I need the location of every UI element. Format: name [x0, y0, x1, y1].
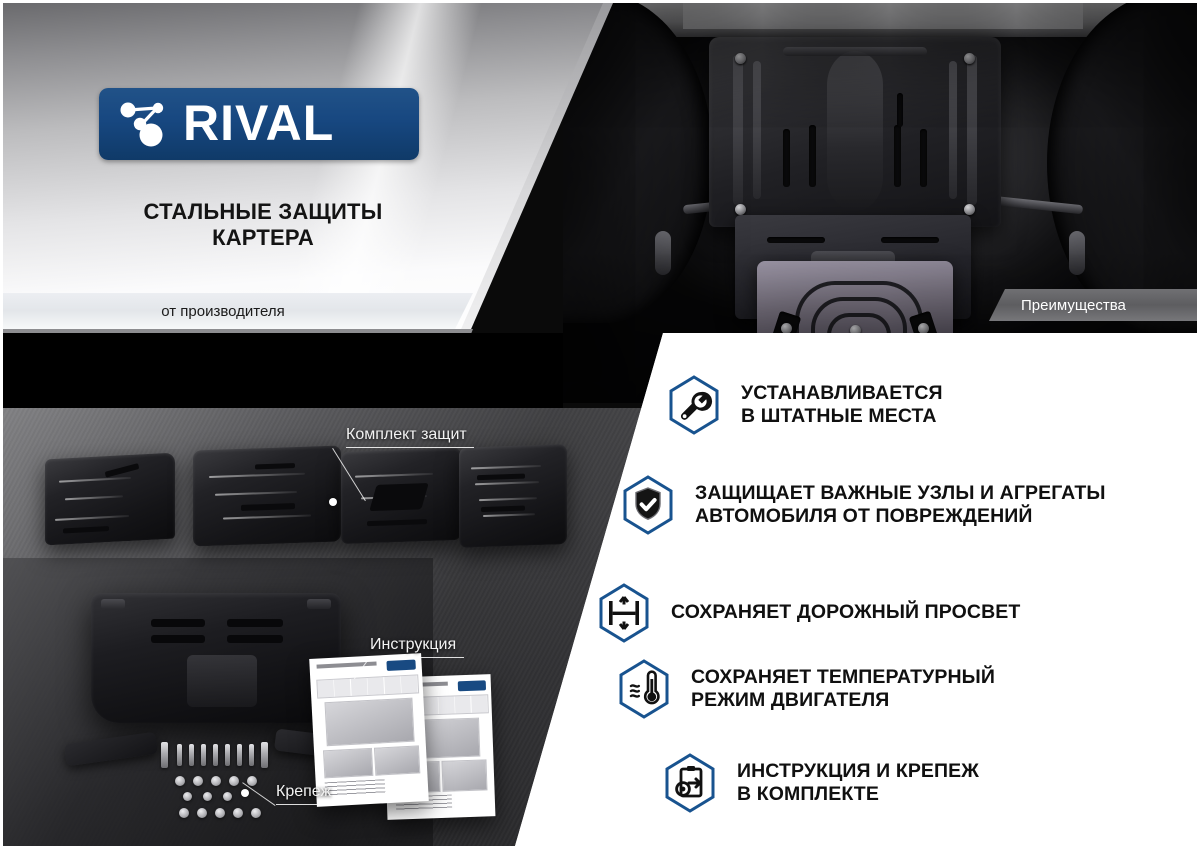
callout-kit-label: Комплект защит: [346, 426, 467, 443]
feature-line-2: В ШТАТНЫЕ МЕСТА: [741, 405, 943, 428]
ground-clearance-icon: [597, 583, 651, 643]
thermometer-icon: [617, 659, 671, 719]
feature-text-kit: ИНСТРУКЦИЯ И КРЕПЕЖ В КОМПЛЕКТЕ: [737, 760, 979, 807]
promo-banner: Преимущества RIVAL СТАЛЬНЫЕ ЗАЩИТЫ КАРТЕ…: [0, 0, 1200, 849]
callout-hardware: Крепеж: [276, 783, 342, 805]
feature-line-2: В КОМПЛЕКТЕ: [737, 783, 979, 806]
header-panel-sheen: [3, 3, 603, 343]
page-title-line2: КАРТЕРА: [3, 225, 523, 251]
page-title-line1: СТАЛЬНЫЕ ЗАЩИТЫ: [3, 199, 523, 225]
page-title: СТАЛЬНЫЕ ЗАЩИТЫ КАРТЕРА: [3, 199, 523, 251]
feature-line-1: СОХРАНЯЕТ ТЕМПЕРАТУРНЫЙ: [691, 666, 995, 689]
callout-kit: Комплект защит: [346, 426, 474, 448]
feature-item-installation: УСТАНАВЛИВАЕТСЯ В ШТАТНЫЕ МЕСТА: [667, 375, 943, 435]
feature-line-2: АВТОМОБИЛЯ ОТ ПОВРЕЖДЕНИЙ: [695, 505, 1106, 528]
clipboard-bolt-icon: [663, 753, 717, 813]
subtitle-text: от производителя: [3, 293, 443, 329]
callout-manual: Инструкция: [370, 636, 464, 658]
molecule-icon: [117, 99, 175, 149]
skid-plate-2: [193, 445, 341, 546]
feature-text-protection: ЗАЩИЩАЕТ ВАЖНЫЕ УЗЛЫ И АГРЕГАТЫ АВТОМОБИ…: [695, 482, 1106, 529]
skid-plate-3: [341, 448, 461, 544]
feature-line-1: СОХРАНЯЕТ ДОРОЖНЫЙ ПРОСВЕТ: [671, 601, 1020, 624]
feature-text-clearance: СОХРАНЯЕТ ДОРОЖНЫЙ ПРОСВЕТ: [671, 601, 1020, 624]
wrench-icon: [667, 375, 721, 435]
feature-line-1: ЗАЩИЩАЕТ ВАЖНЫЕ УЗЛЫ И АГРЕГАТЫ: [695, 482, 1106, 505]
rival-logo: RIVAL: [99, 88, 419, 160]
callout-hardware-label: Крепеж: [276, 783, 331, 800]
advantages-badge-label: Преимущества: [1021, 289, 1126, 321]
skid-plate-1: [45, 453, 175, 546]
feature-item-protection: ЗАЩИЩАЕТ ВАЖНЫЕ УЗЛЫ И АГРЕГАТЫ АВТОМОБИ…: [621, 475, 1106, 535]
banner-frame: Преимущества RIVAL СТАЛЬНЫЕ ЗАЩИТЫ КАРТЕ…: [3, 3, 1197, 846]
callout-kit-dot: [329, 498, 337, 506]
feature-line-2: РЕЖИМ ДВИГАТЕЛЯ: [691, 689, 995, 712]
shield-check-icon: [621, 475, 675, 535]
feature-line-1: ИНСТРУКЦИЯ И КРЕПЕЖ: [737, 760, 979, 783]
feature-line-1: УСТАНАВЛИВАЕТСЯ: [741, 382, 943, 405]
feature-item-temperature: СОХРАНЯЕТ ТЕМПЕРАТУРНЫЙ РЕЖИМ ДВИГАТЕЛЯ: [617, 659, 995, 719]
callout-hardware-dot: [241, 789, 249, 797]
advantages-badge: Преимущества: [989, 289, 1197, 321]
feature-item-kit: ИНСТРУКЦИЯ И КРЕПЕЖ В КОМПЛЕКТЕ: [663, 753, 979, 813]
header-black-band: [3, 333, 563, 411]
rival-logo-text: RIVAL: [183, 98, 334, 148]
callout-manual-label: Инструкция: [370, 636, 456, 653]
feature-text-temperature: СОХРАНЯЕТ ТЕМПЕРАТУРНЫЙ РЕЖИМ ДВИГАТЕЛЯ: [691, 666, 995, 713]
feature-item-clearance: СОХРАНЯЕТ ДОРОЖНЫЙ ПРОСВЕТ: [597, 583, 1020, 643]
main-skid-plate: [91, 593, 341, 723]
sheet-rival-logo: [387, 659, 417, 671]
subtitle-strip: от производителя: [3, 293, 473, 329]
feature-text-installation: УСТАНАВЛИВАЕТСЯ В ШТАТНЫЕ МЕСТА: [741, 382, 943, 429]
skid-plate-4: [459, 444, 567, 548]
sheet-rival-logo: [457, 680, 485, 691]
